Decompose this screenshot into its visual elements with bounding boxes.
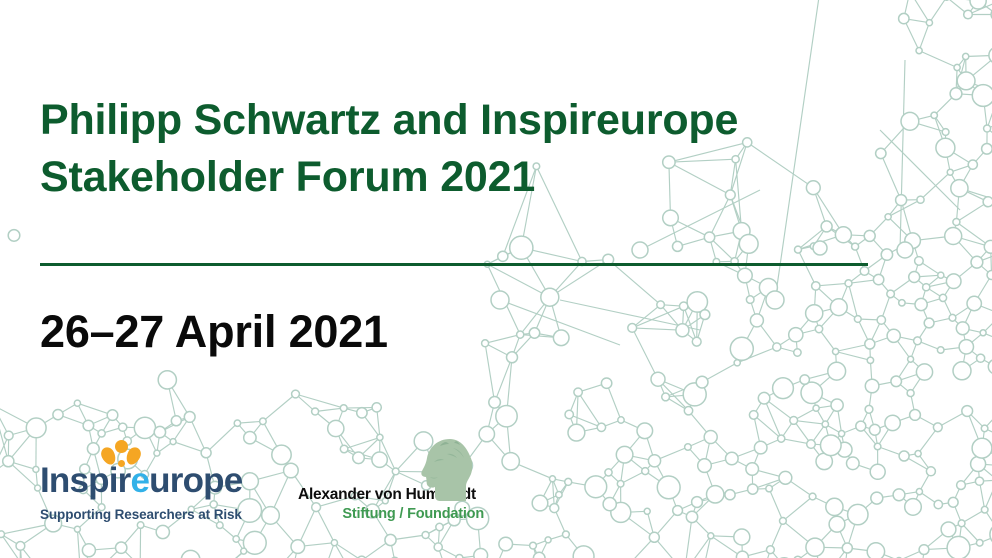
inspireurope-mark-icon: [40, 438, 250, 466]
inspireurope-wordmark-part2: urope: [149, 461, 242, 500]
humboldt-logo: Alexander von Humboldt Stiftung / Founda…: [298, 480, 484, 522]
inspireurope-wordmark-highlight: e: [131, 461, 150, 500]
inspireurope-dot-small-icon: [118, 460, 125, 467]
logo-row: Inspireurope Supporting Researchers at R…: [40, 438, 484, 522]
page-title: Philipp Schwartz and Inspireurope Stakeh…: [40, 92, 880, 206]
inspireurope-tagline: Supporting Researchers at Risk: [40, 507, 250, 522]
humboldt-subtitle: Stiftung / Foundation: [298, 506, 484, 522]
title-divider: [40, 263, 868, 266]
inspireurope-logo: Inspireurope Supporting Researchers at R…: [40, 438, 250, 522]
event-date: 26–27 April 2021: [40, 306, 388, 358]
inspireurope-wordmark-part1: Inspir: [40, 461, 131, 500]
slide-canvas: Philipp Schwartz and Inspireurope Stakeh…: [0, 0, 992, 558]
inspireurope-dot-large-icon: [115, 440, 128, 453]
inspireurope-wordmark: Inspireurope: [40, 463, 250, 498]
humboldt-head-profile-icon: [420, 438, 472, 502]
